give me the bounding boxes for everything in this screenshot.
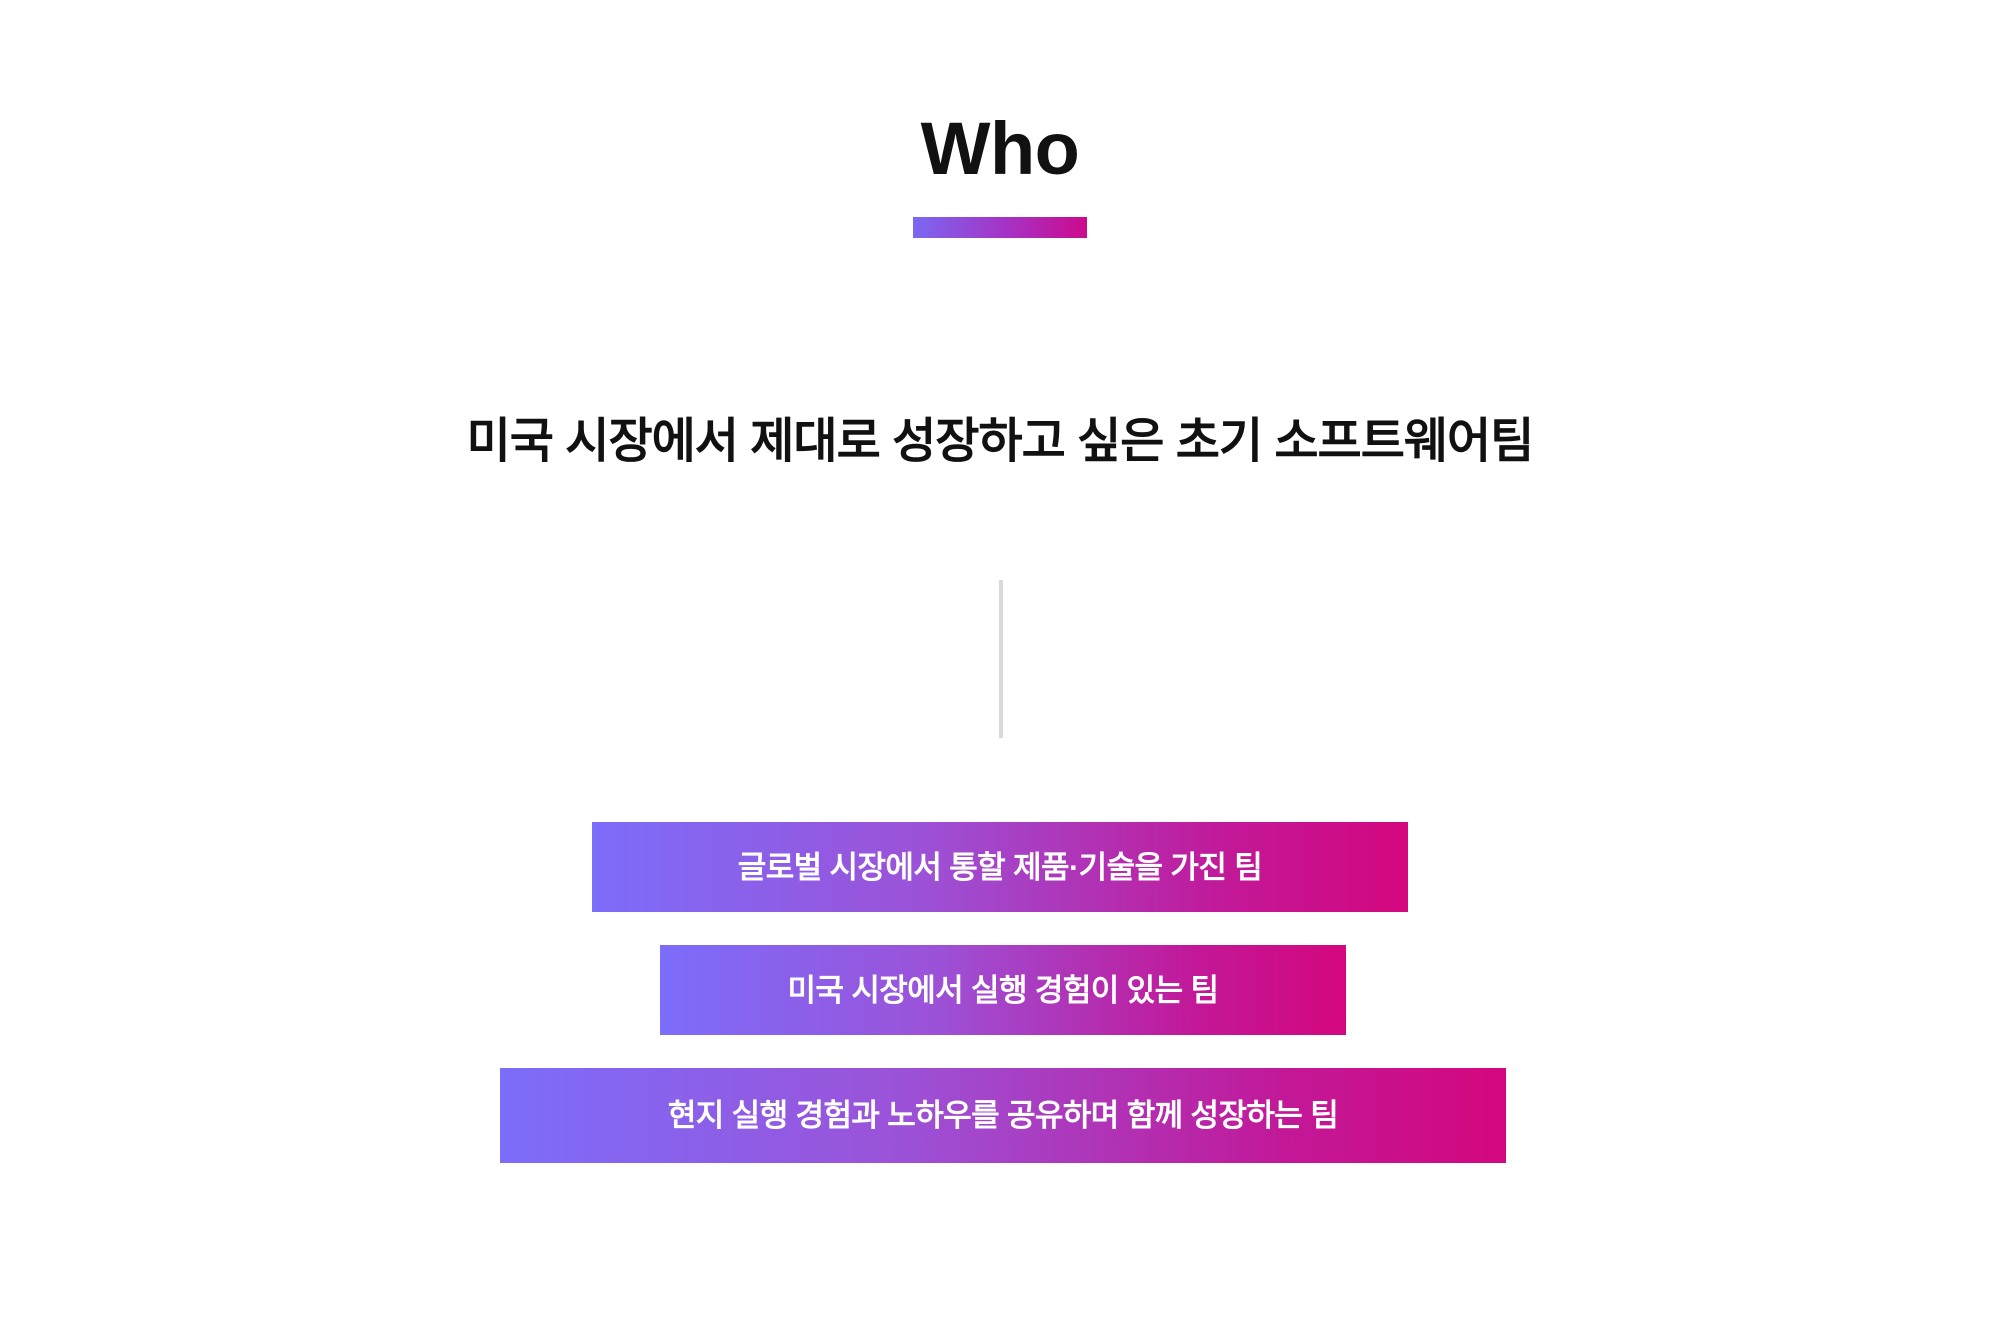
- funnel-bar-1: 글로벌 시장에서 통할 제품·기술을 가진 팀: [592, 822, 1408, 912]
- title-underline-accent: [913, 217, 1087, 238]
- slide-canvas: Who 미국 시장에서 제대로 성장하고 싶은 초기 소프트웨어팀 글로벌 시장…: [0, 0, 2000, 1332]
- heading-block: Who: [0, 110, 2000, 238]
- funnel-bar-label: 글로벌 시장에서 통할 제품·기술을 가진 팀: [738, 852, 1262, 883]
- funnel-bar-3: 현지 실행 경험과 노하우를 공유하며 함께 성장하는 팀: [500, 1068, 1506, 1163]
- funnel-connector-line: [999, 580, 1003, 738]
- funnel-bar-label: 현지 실행 경험과 노하우를 공유하며 함께 성장하는 팀: [668, 1100, 1338, 1131]
- funnel-bar-2: 미국 시장에서 실행 경험이 있는 팀: [660, 945, 1346, 1035]
- funnel-row: 글로벌 시장에서 통할 제품·기술을 가진 팀: [0, 822, 2000, 912]
- funnel-bar-label: 미국 시장에서 실행 경험이 있는 팀: [788, 975, 1219, 1006]
- page-title: Who: [0, 110, 2000, 188]
- funnel-row: 현지 실행 경험과 노하우를 공유하며 함께 성장하는 팀: [0, 1068, 2000, 1163]
- funnel-row: 미국 시장에서 실행 경험이 있는 팀: [0, 945, 2000, 1035]
- funnel-diagram: 글로벌 시장에서 통할 제품·기술을 가진 팀 미국 시장에서 실행 경험이 있…: [0, 822, 2000, 1163]
- slide-subtitle: 미국 시장에서 제대로 성장하고 싶은 초기 소프트웨어팀: [0, 412, 2000, 472]
